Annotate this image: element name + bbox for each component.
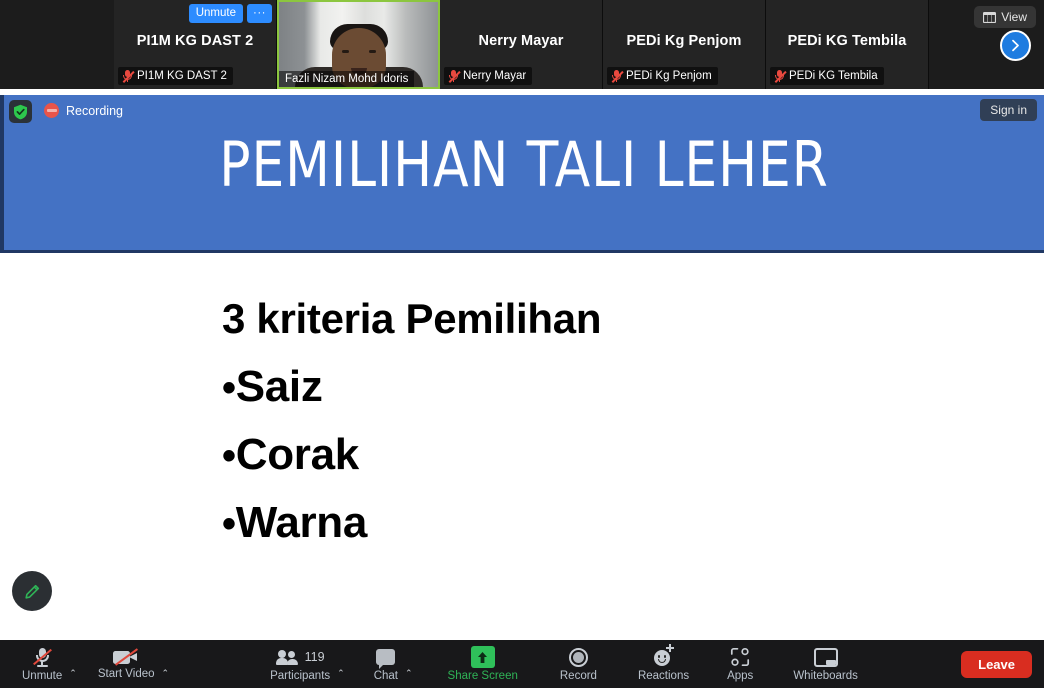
view-button[interactable]: View (974, 6, 1036, 28)
bullet-text: Saiz (236, 362, 323, 411)
leave-button[interactable]: Leave (961, 651, 1032, 678)
reactions-smiley-icon (653, 647, 675, 667)
meeting-toolbar: Unmute ⌃ Start Video ⌃ 119 (0, 640, 1044, 688)
participant-tile-2-display-name: Nerry Mayar (440, 33, 602, 49)
grid-layout-icon (983, 12, 996, 23)
participant-name-text: PEDi KG Tembila (789, 70, 878, 82)
microphone-muted-icon (33, 647, 51, 668)
next-page-button[interactable] (1000, 30, 1031, 61)
participant-tile-0-name-label: PI1M KG DAST 2 (118, 67, 233, 85)
chat-bubble-icon (376, 649, 395, 665)
recording-pause-icon (44, 103, 59, 118)
chat-options-caret[interactable]: ⌃ (402, 665, 416, 682)
security-button[interactable] (9, 100, 32, 123)
video-control-group: Start Video ⌃ (94, 640, 172, 688)
recording-indicator[interactable]: Recording (44, 103, 123, 118)
slide-title: PEMILIHAN TALI LEHER (40, 128, 1007, 201)
audio-button[interactable]: Unmute (18, 640, 66, 688)
chevron-right-icon (1009, 39, 1022, 52)
more-options-button[interactable]: ··· (247, 4, 272, 23)
apps-button[interactable]: Apps (723, 640, 757, 688)
slide-body: 3 kriteria Pemilihan •Saiz •Corak •Warna (222, 298, 601, 569)
participant-tile-4-name-label: PEDi KG Tembila (770, 67, 884, 85)
audio-button-label: Unmute (22, 670, 62, 682)
unmute-button[interactable]: Unmute (189, 4, 243, 23)
participant-filmstrip: PI1M KG DAST 2 Unmute ··· PI1M KG DAST 2 (0, 0, 1044, 89)
slide-bullet-1: •Corak (222, 433, 601, 477)
apps-icon-wrap (730, 647, 750, 668)
record-button-label: Record (560, 670, 597, 682)
participant-tile-4-display-name: PEDi KG Tembila (766, 33, 928, 49)
participant-tile-4[interactable]: PEDi KG Tembila PEDi KG Tembila (766, 0, 929, 89)
participants-icon-wrap: 119 (276, 647, 325, 668)
participant-name-text: PI1M KG DAST 2 (137, 70, 227, 82)
bullet-dot: • (222, 502, 236, 546)
apps-icon (730, 647, 750, 667)
bullet-text: Corak (236, 430, 359, 479)
participants-count: 119 (305, 650, 325, 664)
slide-title-banner: PEMILIHAN TALI LEHER (0, 95, 1044, 253)
participant-name-text: PEDi Kg Penjom (626, 70, 712, 82)
video-button-label: Start Video (98, 668, 155, 680)
recording-label: Recording (66, 104, 123, 118)
participant-tile-0[interactable]: PI1M KG DAST 2 Unmute ··· PI1M KG DAST 2 (114, 0, 277, 89)
camera-off-icon (113, 648, 139, 666)
apps-button-label: Apps (727, 670, 753, 682)
microphone-muted-icon (448, 69, 459, 83)
shared-screen-stage: PEMILIHAN TALI LEHER 3 kriteria Pemiliha… (0, 89, 1044, 640)
whiteboards-button[interactable]: Whiteboards (789, 640, 862, 688)
upload-arrow-icon (477, 651, 488, 664)
microphone-muted-icon (611, 69, 622, 83)
participant-tile-0-actions: Unmute ··· (189, 4, 272, 23)
slide-bullet-2: •Warna (222, 501, 601, 545)
zoom-meeting-window: PI1M KG DAST 2 Unmute ··· PI1M KG DAST 2 (0, 0, 1044, 688)
record-button[interactable]: Record (556, 640, 601, 688)
participant-tile-2-name-label: Nerry Mayar (444, 67, 532, 85)
reactions-button-label: Reactions (638, 670, 689, 682)
microphone-muted-icon (122, 69, 133, 83)
annotate-button[interactable] (12, 571, 52, 611)
bullet-text: Warna (236, 498, 367, 547)
chat-button[interactable]: Chat (370, 640, 402, 688)
audio-control-group: Unmute ⌃ (18, 640, 80, 688)
bullet-dot: • (222, 366, 236, 410)
bullet-dot: • (222, 434, 236, 478)
participants-control-group: 119 Participants ⌃ (266, 640, 348, 688)
participants-button-label: Participants (270, 670, 330, 682)
chat-icon-wrap (376, 647, 395, 668)
participants-button[interactable]: 119 Participants (266, 640, 334, 688)
participant-tile-3-name-label: PEDi Kg Penjom (607, 67, 718, 85)
whiteboard-icon (814, 648, 838, 667)
whiteboards-button-label: Whiteboards (793, 670, 858, 682)
slide-bullet-0: •Saiz (222, 365, 601, 409)
record-icon-wrap (569, 647, 588, 668)
view-button-label: View (1001, 10, 1027, 24)
participant-tile-1-name-label: Fazli Nizam Mohd Idoris (279, 71, 414, 87)
share-icon-wrap (471, 647, 495, 668)
participant-tile-2[interactable]: Nerry Mayar Nerry Mayar (440, 0, 603, 89)
participants-icon (276, 650, 300, 665)
share-screen-button[interactable]: Share Screen (444, 640, 522, 688)
whiteboard-icon-wrap (814, 647, 838, 668)
sign-in-button[interactable]: Sign in (980, 99, 1037, 121)
participant-name-text: Fazli Nizam Mohd Idoris (285, 73, 408, 85)
filmstrip-spacer-left (0, 0, 114, 89)
pencil-icon (23, 582, 42, 601)
record-circle-icon (569, 648, 588, 667)
participant-tile-3[interactable]: PEDi Kg Penjom PEDi Kg Penjom (603, 0, 766, 89)
chat-button-label: Chat (374, 670, 398, 682)
participant-name-text: Nerry Mayar (463, 70, 526, 82)
participant-tile-1-active-speaker[interactable]: Fazli Nizam Mohd Idoris (277, 0, 440, 89)
participants-options-caret[interactable]: ⌃ (334, 665, 348, 682)
participant-tile-0-display-name: PI1M KG DAST 2 (114, 33, 276, 49)
chat-control-group: Chat ⌃ (370, 640, 416, 688)
reactions-icon-wrap (653, 647, 675, 668)
reactions-button[interactable]: Reactions (634, 640, 693, 688)
microphone-muted-icon (774, 69, 785, 83)
video-options-caret[interactable]: ⌃ (159, 665, 173, 682)
video-button[interactable]: Start Video (94, 640, 159, 688)
slide-heading: 3 kriteria Pemilihan (222, 298, 601, 340)
share-screen-icon (471, 646, 495, 668)
shield-check-icon (13, 104, 28, 120)
audio-options-caret[interactable]: ⌃ (66, 665, 80, 682)
participant-tile-3-display-name: PEDi Kg Penjom (603, 33, 765, 49)
share-screen-button-label: Share Screen (448, 670, 518, 682)
